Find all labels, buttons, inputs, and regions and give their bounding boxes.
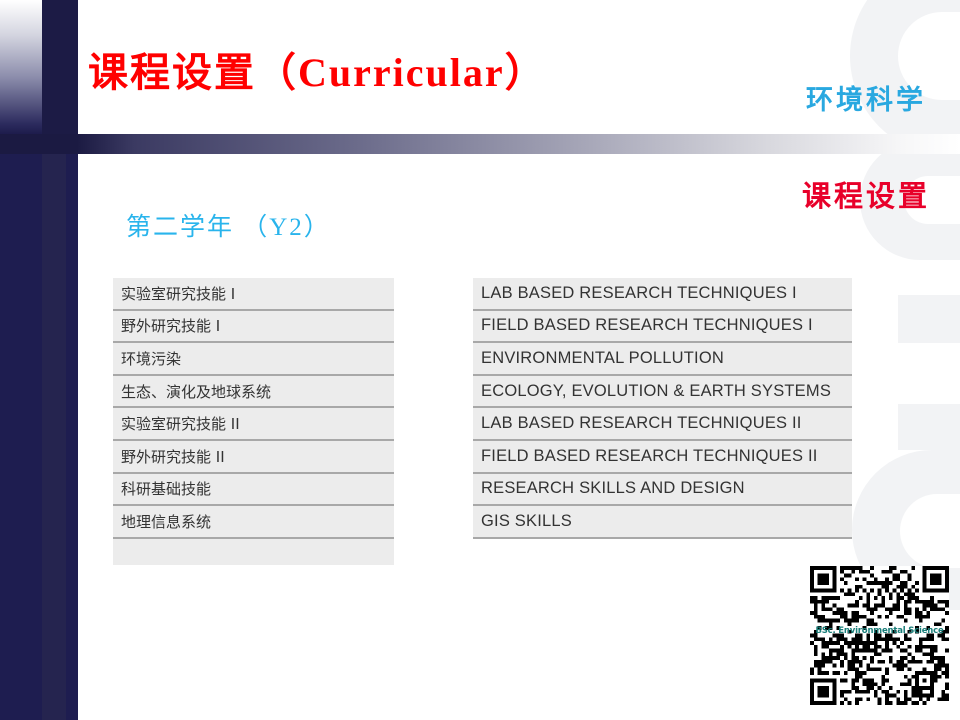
qr-code[interactable]: BSc. Environmental Science xyxy=(810,566,949,710)
course-row: 地理信息系统 xyxy=(113,506,394,539)
sidebar-dark-strip-top xyxy=(42,0,78,134)
slide-canvas: 课程设置（Curricular） 环境科学 课程设置 第二学年 （Y2） 实验室… xyxy=(0,0,960,720)
decorative-band-middle xyxy=(898,404,960,450)
course-row: ECOLOGY, EVOLUTION & EARTH SYSTEMS xyxy=(473,376,852,409)
course-row: LAB BASED RESEARCH TECHNIQUES I xyxy=(473,278,852,311)
course-table-chinese: 实验室研究技能 I野外研究技能 I环境污染生态、演化及地球系统实验室研究技能 I… xyxy=(113,278,394,565)
header-divider-band xyxy=(0,134,960,154)
subject-label: 环境科学 xyxy=(806,78,926,117)
course-row: 实验室研究技能 I xyxy=(113,278,394,311)
course-row: 科研基础技能 xyxy=(113,474,394,507)
header-divider-left-cap xyxy=(0,134,78,154)
course-row: 野外研究技能 II xyxy=(113,441,394,474)
course-table-english: LAB BASED RESEARCH TECHNIQUES IFIELD BAS… xyxy=(473,278,852,539)
course-row: FIELD BASED RESEARCH TECHNIQUES II xyxy=(473,441,852,474)
page-title: 课程设置（Curricular） xyxy=(88,40,547,98)
decorative-band-upper xyxy=(898,295,960,343)
section-label: 课程设置 xyxy=(802,173,930,215)
course-row: 野外研究技能 I xyxy=(113,311,394,344)
course-row: 环境污染 xyxy=(113,343,394,376)
course-table-spacer-row xyxy=(113,539,394,565)
course-row: 生态、演化及地球系统 xyxy=(113,376,394,409)
qr-code-caption: BSc. Environmental Science xyxy=(810,626,949,636)
course-row: ENVIRONMENTAL POLLUTION xyxy=(473,343,852,376)
course-row: GIS SKILLS xyxy=(473,506,852,539)
course-row: RESEARCH SKILLS AND DESIGN xyxy=(473,474,852,507)
course-row: 实验室研究技能 II xyxy=(113,408,394,441)
course-row: FIELD BASED RESEARCH TECHNIQUES I xyxy=(473,311,852,344)
year-subtitle: 第二学年 （Y2） xyxy=(126,207,331,243)
sidebar-solid-bar xyxy=(0,134,78,720)
course-row: LAB BASED RESEARCH TECHNIQUES II xyxy=(473,408,852,441)
sidebar-dark-strip-bottom xyxy=(42,134,66,720)
